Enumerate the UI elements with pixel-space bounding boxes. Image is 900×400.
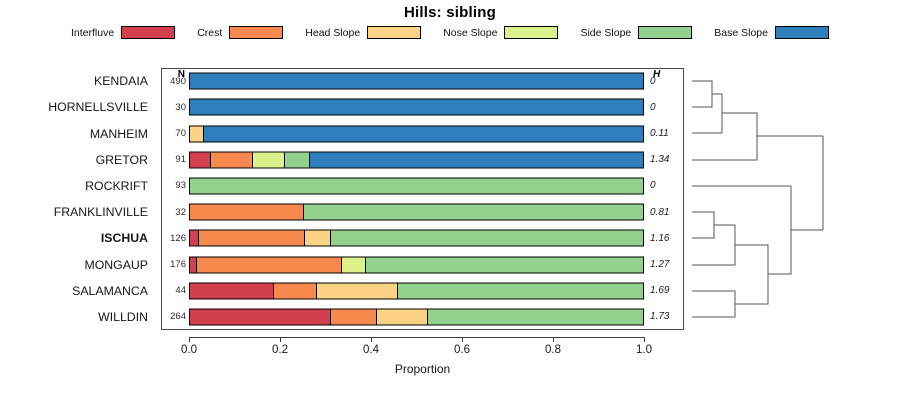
- legend-item-label: Crest: [197, 27, 222, 39]
- dendro-link-f: [692, 291, 735, 317]
- bar-row: 700.11: [161, 120, 684, 146]
- bar-rows: N H 4900300700.11911.34930320.811261.161…: [161, 68, 684, 330]
- legend-item-label: Nose Slope: [443, 27, 497, 39]
- bar-segment-side-slope[interactable]: [284, 152, 309, 167]
- y-axis-label-mongaup: MONGAUP: [0, 251, 155, 277]
- y-axis-labels: KENDAIAHORNELLSVILLEMANHEIMGRETORROCKRIF…: [0, 68, 155, 330]
- row-h-value: 1.69: [646, 278, 684, 304]
- chart-root: Hills: sibling InterfluveCrestHead Slope…: [0, 0, 900, 400]
- bar-row: 300: [161, 94, 684, 120]
- legend-item-label: Side Slope: [580, 27, 631, 39]
- row-h-value: 0: [646, 173, 684, 199]
- dendro-link-c: [692, 113, 757, 160]
- legend-item-crest[interactable]: Crest: [197, 26, 283, 39]
- bar-row: 1261.16: [161, 225, 684, 251]
- dendro-link-g: [735, 245, 768, 304]
- bar-segment-side-slope[interactable]: [190, 178, 643, 193]
- legend-swatch: [775, 26, 829, 39]
- legend-item-head-slope[interactable]: Head Slope: [305, 26, 421, 39]
- y-axis-label-manheim: MANHEIM: [0, 120, 155, 146]
- bar-segment-base-slope[interactable]: [309, 152, 643, 167]
- bar-segment-crest[interactable]: [190, 205, 303, 220]
- x-axis-tick: [553, 337, 554, 342]
- legend: InterfluveCrestHead SlopeNose SlopeSide …: [0, 26, 900, 39]
- dendro-link-a: [692, 81, 712, 107]
- row-h-value: 0.11: [646, 120, 684, 146]
- bar-segment-head-slope[interactable]: [376, 309, 428, 324]
- y-axis-label-rockrift: ROCKRIFT: [0, 173, 155, 199]
- bar-segment-head-slope[interactable]: [304, 231, 330, 246]
- stacked-bar[interactable]: [189, 151, 644, 168]
- row-h-value: 1.27: [646, 251, 684, 277]
- bar-segment-head-slope[interactable]: [190, 126, 203, 141]
- x-axis-line: [189, 337, 644, 338]
- legend-item-label: Head Slope: [305, 27, 360, 39]
- dendro-link-b: [692, 94, 722, 133]
- bar-segment-interfluve[interactable]: [190, 231, 198, 246]
- x-axis-tick-label: 0.4: [363, 344, 379, 356]
- row-n-value: 176: [161, 251, 189, 277]
- bar-segment-crest[interactable]: [196, 257, 341, 272]
- bar-segment-base-slope[interactable]: [203, 126, 643, 141]
- row-h-value: 0: [646, 94, 684, 120]
- x-axis-tick-label: 0.2: [272, 344, 288, 356]
- row-n-value: 32: [161, 199, 189, 225]
- x-axis-tick-label: 1.0: [636, 344, 652, 356]
- x-axis-tick: [280, 337, 281, 342]
- y-axis-label-hornellsville: HORNELLSVILLE: [0, 94, 155, 120]
- stacked-bar[interactable]: [189, 73, 644, 90]
- stacked-bar[interactable]: [189, 282, 644, 299]
- bar-segment-interfluve[interactable]: [190, 309, 330, 324]
- stacked-bar[interactable]: [189, 204, 644, 221]
- x-axis: 0.00.20.40.60.81.0: [161, 330, 684, 364]
- row-n-value: 93: [161, 173, 189, 199]
- row-h-value: 0.81: [646, 199, 684, 225]
- y-axis-label-ischua: ISCHUA: [0, 225, 155, 251]
- bar-segment-head-slope[interactable]: [316, 283, 397, 298]
- bar-row: 441.69: [161, 278, 684, 304]
- bar-segment-crest[interactable]: [198, 231, 305, 246]
- legend-swatch: [638, 26, 692, 39]
- legend-item-base-slope[interactable]: Base Slope: [714, 26, 829, 39]
- legend-swatch: [367, 26, 421, 39]
- row-n-value: 91: [161, 147, 189, 173]
- row-n-value: 126: [161, 225, 189, 251]
- legend-swatch: [504, 26, 558, 39]
- stacked-bar[interactable]: [189, 177, 644, 194]
- row-n-value: 490: [161, 68, 189, 94]
- x-axis-tick: [189, 337, 190, 342]
- x-axis-tick: [462, 337, 463, 342]
- stacked-bar[interactable]: [189, 256, 644, 273]
- y-axis-label-salamanca: SALAMANCA: [0, 278, 155, 304]
- dendrogram: [690, 68, 895, 330]
- x-axis-tick: [371, 337, 372, 342]
- stacked-bar[interactable]: [189, 125, 644, 142]
- dendrogram-svg: [690, 68, 895, 330]
- dendro-link-d: [692, 212, 714, 238]
- x-axis-tick-label: 0.0: [181, 344, 197, 356]
- row-n-value: 44: [161, 278, 189, 304]
- bar-segment-interfluve[interactable]: [190, 283, 273, 298]
- row-h-value: 0: [646, 68, 684, 94]
- bar-row: 1761.27: [161, 251, 684, 277]
- legend-swatch: [229, 26, 283, 39]
- bar-segment-base-slope[interactable]: [190, 100, 643, 115]
- bar-segment-nose-slope[interactable]: [252, 152, 285, 167]
- dendro-link-h: [692, 186, 791, 274]
- bar-segment-side-slope[interactable]: [427, 309, 643, 324]
- row-n-value: 264: [161, 304, 189, 330]
- y-axis-label-gretor: GRETOR: [0, 147, 155, 173]
- stacked-bar[interactable]: [189, 230, 644, 247]
- y-axis-label-franklinville: FRANKLINVILLE: [0, 199, 155, 225]
- x-axis-tick: [644, 337, 645, 342]
- legend-item-label: Base Slope: [714, 27, 768, 39]
- stacked-bar[interactable]: [189, 99, 644, 116]
- x-axis-title: Proportion: [161, 362, 684, 376]
- bar-segment-crest[interactable]: [273, 283, 315, 298]
- legend-item-label: Interfluve: [71, 27, 114, 39]
- bar-row: 4900: [161, 68, 684, 94]
- legend-item-interfluve[interactable]: Interfluve: [71, 26, 175, 39]
- bar-segment-side-slope[interactable]: [365, 257, 643, 272]
- row-h-value: 1.73: [646, 304, 684, 330]
- bar-segment-crest[interactable]: [330, 309, 376, 324]
- bar-row: 320.81: [161, 199, 684, 225]
- bar-segment-side-slope[interactable]: [330, 231, 643, 246]
- legend-item-side-slope[interactable]: Side Slope: [580, 26, 692, 39]
- bar-row: 930: [161, 173, 684, 199]
- bar-segment-nose-slope[interactable]: [341, 257, 365, 272]
- row-n-value: 70: [161, 120, 189, 146]
- legend-item-nose-slope[interactable]: Nose Slope: [443, 26, 558, 39]
- bar-segment-crest[interactable]: [210, 152, 251, 167]
- x-axis-tick-label: 0.6: [454, 344, 470, 356]
- row-h-value: 1.34: [646, 147, 684, 173]
- bar-segment-interfluve[interactable]: [190, 152, 210, 167]
- bar-segment-base-slope[interactable]: [190, 74, 643, 89]
- row-n-value: 30: [161, 94, 189, 120]
- legend-swatch: [121, 26, 175, 39]
- y-axis-label-kendaia: KENDAIA: [0, 68, 155, 94]
- row-h-value: 1.16: [646, 225, 684, 251]
- bar-segment-side-slope[interactable]: [397, 283, 643, 298]
- y-axis-label-willdin: WILLDIN: [0, 304, 155, 330]
- x-axis-tick-label: 0.8: [545, 344, 561, 356]
- page-title: Hills: sibling: [0, 4, 900, 21]
- stacked-bar[interactable]: [189, 308, 644, 325]
- bar-row: 2641.73: [161, 304, 684, 330]
- bar-segment-side-slope[interactable]: [303, 205, 643, 220]
- bar-row: 911.34: [161, 147, 684, 173]
